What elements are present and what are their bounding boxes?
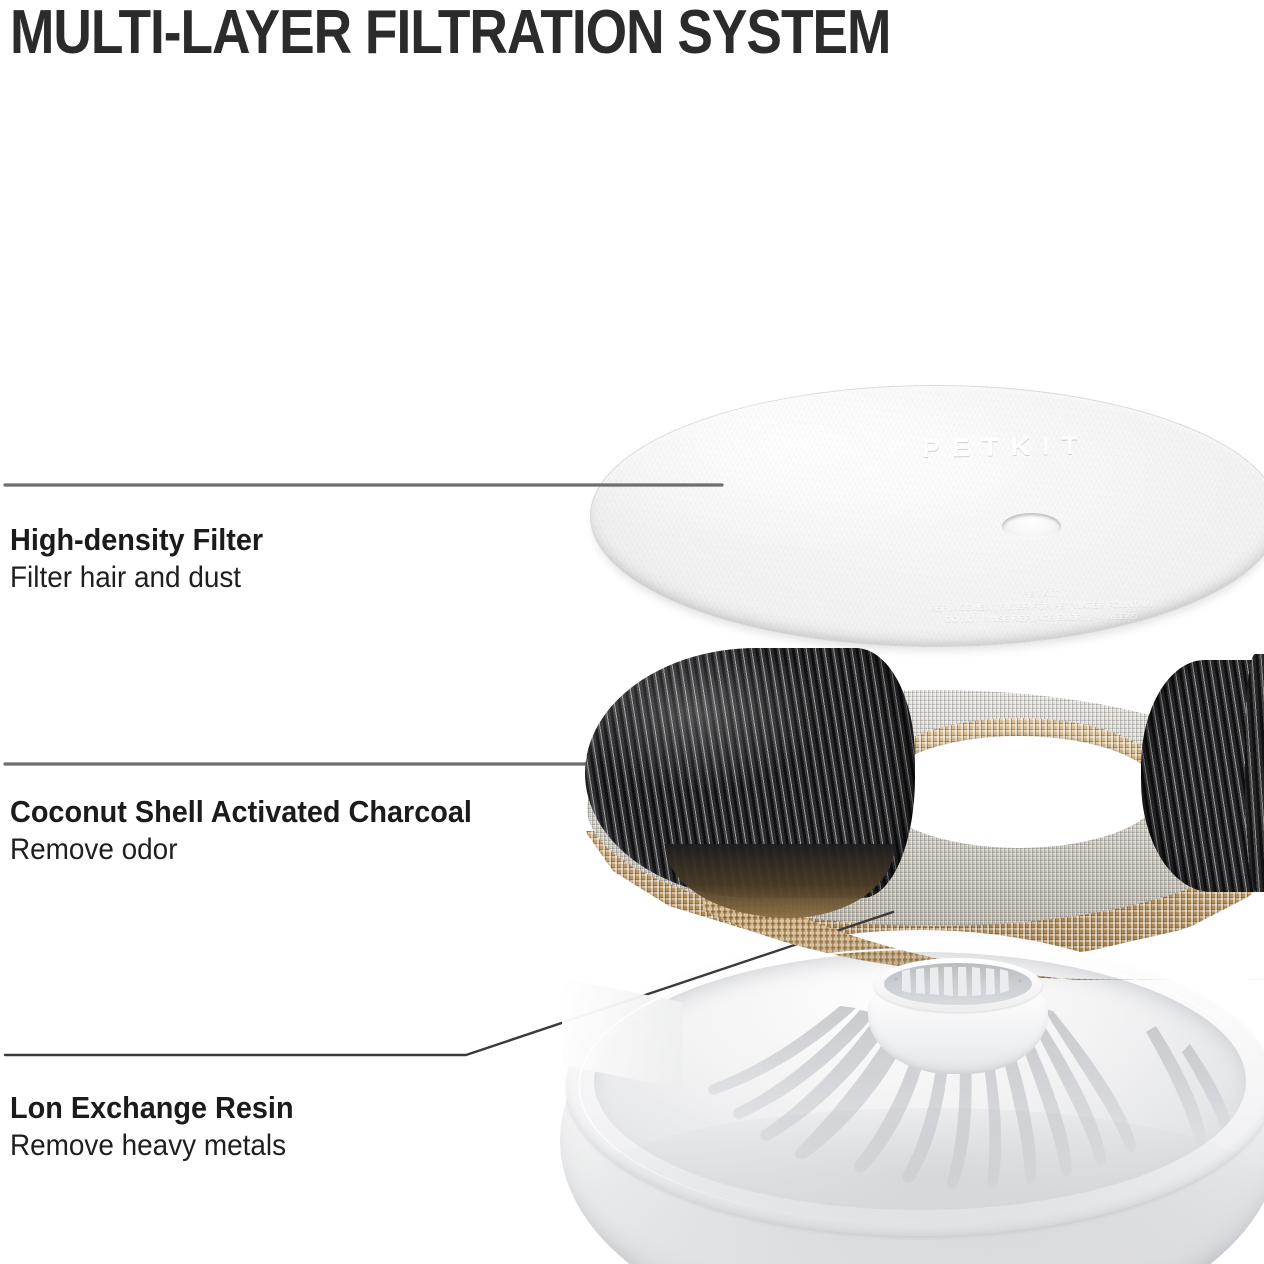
hub-radial-teeth — [884, 963, 1032, 1005]
embossed-brand-label: PETKIT — [922, 431, 1091, 463]
fine-print-line-2: REPLACEMENT FILTER FOR PET WATER FOUNTAI… — [876, 597, 1206, 615]
resin-mesh-inner-wall — [871, 718, 1167, 846]
felt-disc-fine-print: PETKIT REPLACEMENT FILTER FOR PET WATER … — [876, 585, 1207, 627]
charcoal-mesh-right-lobe — [1141, 660, 1264, 892]
callout-leader-lines — [0, 0, 1264, 1264]
felt-texture-overlay — [590, 385, 1264, 647]
callout-title: Coconut Shell Activated Charcoal — [10, 795, 472, 830]
mesh-top-plate — [587, 690, 1264, 926]
charcoal-mesh-left-base-shadow — [665, 844, 895, 918]
leader-line-3 — [5, 912, 893, 1055]
charcoal-sheen-overlay — [585, 648, 915, 898]
resin-mesh-outer-ring — [585, 716, 1264, 966]
base-radial-vane-slots — [594, 952, 1246, 1210]
callout-lon-exchange-resin: Lon Exchange Resin Remove heavy metals — [10, 1091, 315, 1163]
hub-recessed-opening — [884, 963, 1032, 1005]
layer-high-density-filter-disc — [590, 385, 1264, 647]
resin-mesh-front-band — [703, 860, 1264, 980]
base-central-hub — [860, 952, 1056, 1078]
fine-print-line-3: DO NOT RINSE REPLACE EVERY 2-4 WEEKS — [876, 609, 1206, 627]
felt-disc-center-hole — [1002, 513, 1061, 540]
callout-title: Lon Exchange Resin — [10, 1091, 294, 1126]
callout-coconut-shell-activated-charcoal: Coconut Shell Activated Charcoal Remove … — [10, 795, 507, 867]
base-inner-shadow — [580, 1108, 1264, 1264]
hub-top-ring — [874, 958, 1042, 1012]
page-title: MULTI-LAYER FILTRATION SYSTEM — [10, 2, 890, 64]
infographic-canvas: MULTI-LAYER FILTRATION SYSTEM PETKIT PET… — [0, 0, 1264, 1264]
charcoal-mesh-right-edge-lobe — [1245, 654, 1264, 892]
hub-cylinder — [868, 974, 1048, 1074]
base-left-wall-facet — [562, 978, 682, 1128]
base-outer-shell — [560, 930, 1264, 1264]
product-exploded-diagram: PETKIT PETKIT REPLACEMENT FILTER FOR PET… — [0, 0, 1264, 1264]
charcoal-mesh-left-lobe — [585, 648, 915, 898]
base-top-rim — [566, 936, 1264, 1236]
felt-disc-rim — [590, 385, 1264, 647]
layer-charcoal-and-resin-annulus — [585, 648, 1264, 948]
callout-high-density-filter: High-density Filter Filter hair and dust — [10, 523, 282, 595]
annulus-center-hole — [878, 736, 1160, 848]
callout-subtitle: Filter hair and dust — [10, 560, 263, 595]
fine-print-line-1: PETKIT — [876, 585, 1206, 603]
felt-disc-edge — [590, 400, 1264, 662]
base-inner-lip-highlight — [578, 948, 1262, 1224]
callout-subtitle: Remove odor — [10, 832, 472, 867]
base-bowl-interior — [594, 952, 1246, 1210]
callout-title: High-density Filter — [10, 523, 263, 558]
callout-subtitle: Remove heavy metals — [10, 1128, 294, 1163]
layer-base-housing — [560, 930, 1264, 1264]
